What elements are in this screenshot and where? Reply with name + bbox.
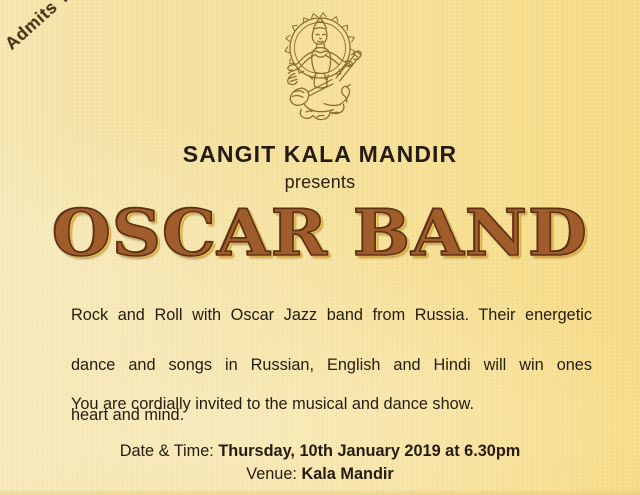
event-title-wrap: OSCAR BAND: [0, 202, 640, 266]
event-details: Date & Time: Thursday, 10th January 2019…: [0, 440, 640, 486]
event-ticket: Admits Two: [0, 0, 640, 495]
date-time-label: Date & Time:: [120, 442, 219, 460]
venue-row: Venue: Kala Mandir: [0, 463, 640, 486]
bottom-scan-edge: [0, 489, 640, 495]
organization-block: SANGIT KALA MANDIR presents: [0, 142, 640, 193]
venue-value: Kala Mandir: [301, 465, 393, 483]
admits-two-note: Admits Two: [1, 0, 92, 54]
event-title: OSCAR BAND: [52, 202, 588, 266]
date-time-row: Date & Time: Thursday, 10th January 2019…: [0, 440, 640, 463]
saraswati-veena-emblem-icon: [254, 8, 386, 140]
organization-name: SANGIT KALA MANDIR: [0, 142, 640, 167]
description-line-1: Rock and Roll with Oscar Jazz band from …: [71, 303, 592, 353]
invitation-text: You are cordially invited to the musical…: [71, 392, 592, 417]
presents-label: presents: [0, 172, 640, 193]
date-time-value: Thursday, 10th January 2019 at 6.30pm: [218, 442, 520, 460]
venue-label: Venue:: [246, 465, 301, 483]
